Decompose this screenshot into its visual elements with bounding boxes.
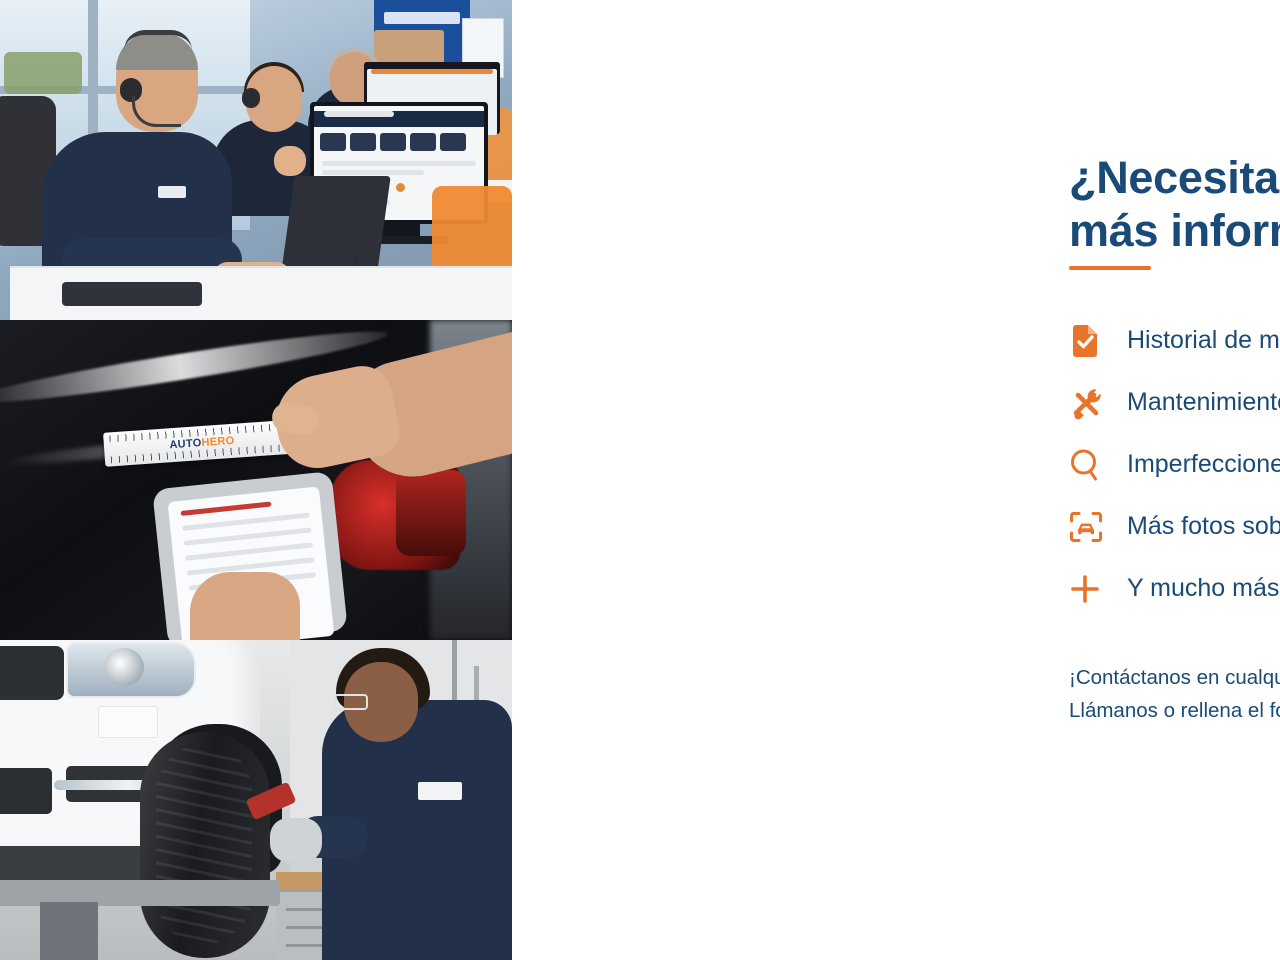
feature-item-fotos: Más fotos sobre el coche: [1069, 496, 1280, 558]
page-title: ¿Necesitas más información?: [1069, 152, 1280, 257]
contact-text: ¡Contáctanos en cualquier momento para m…: [1069, 661, 1280, 727]
feature-list: Historial de mantenimientos Mantenimient…: [1069, 310, 1280, 620]
document-check-icon: [1069, 324, 1127, 358]
feature-item-mucho-mas: Y mucho más: [1069, 558, 1280, 620]
technician-wheel-service-photo: [0, 640, 512, 960]
contact-line-1: ¡Contáctanos en cualquier momento para m…: [1069, 661, 1280, 694]
content-panel: ¿Necesitas más información? Estamos enca…: [512, 0, 1280, 960]
plus-icon: [1069, 573, 1127, 605]
feature-label: Y mucho más: [1127, 575, 1279, 603]
car-viewfinder-icon: [1069, 511, 1127, 543]
feature-item-imperfecciones: Imperfecciones: [1069, 434, 1280, 496]
promo-page: AUTOHERO ¿Necesitas más infor: [0, 0, 1280, 960]
feature-label: Más fotos sobre el coche: [1127, 513, 1280, 541]
feature-item-mantenimiento: Mantenimiento realizado: [1069, 372, 1280, 434]
feature-item-historial: Historial de mantenimientos: [1069, 310, 1280, 372]
feature-label: Historial de mantenimientos: [1127, 327, 1280, 355]
feature-label: Imperfecciones: [1127, 451, 1280, 479]
headline-line-2: más información?: [1069, 205, 1280, 258]
magnifier-icon: [1069, 448, 1127, 482]
photo-column: AUTOHERO: [0, 0, 512, 960]
contact-line-2: Llámanos o rellena el formulario de cont…: [1069, 694, 1280, 727]
feature-label: Mantenimiento realizado: [1127, 389, 1280, 417]
car-inspection-ruler-photo: AUTOHERO: [0, 320, 512, 640]
call-center-agents-photo: [0, 0, 512, 320]
tools-wrench-screwdriver-icon: [1069, 386, 1127, 420]
title-underline-rule: [1069, 266, 1151, 270]
headline-line-1: ¿Necesitas: [1069, 152, 1280, 205]
